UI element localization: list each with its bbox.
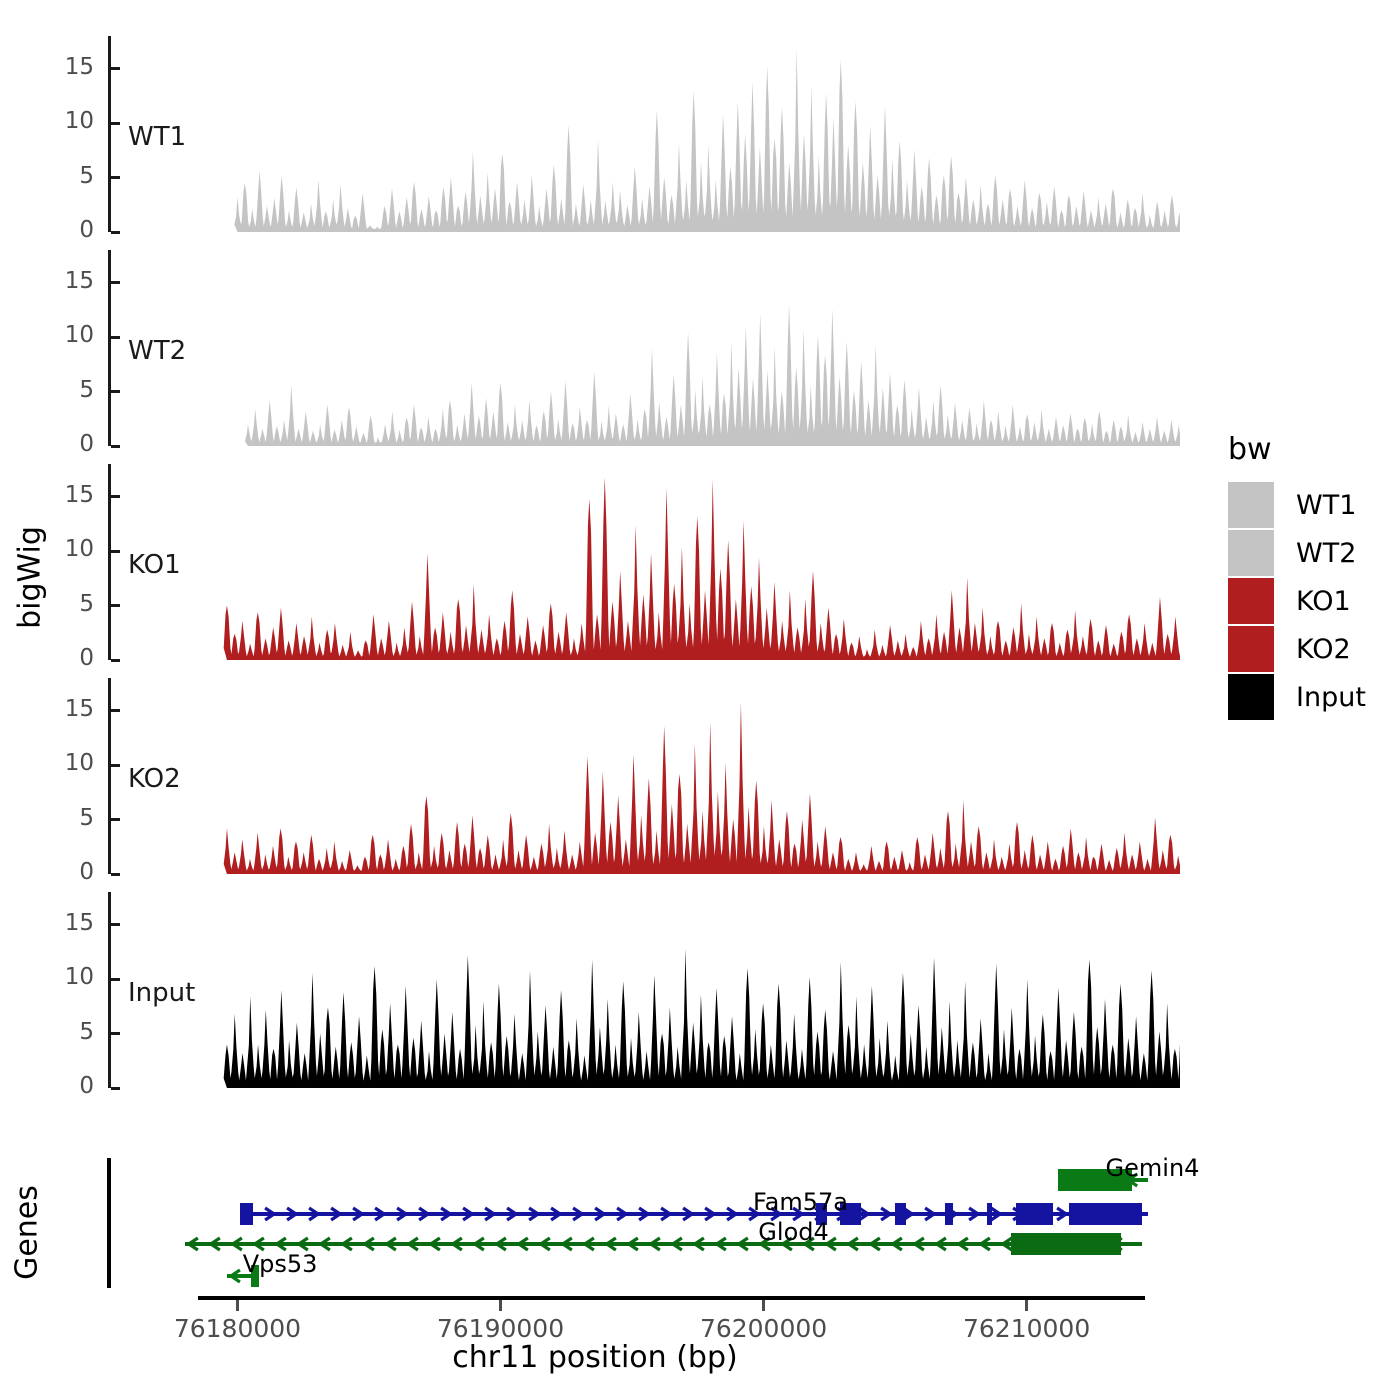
x-tick-label: 76200000 [674,1314,854,1343]
legend-item-label: WT1 [1296,490,1356,521]
legend-color-swatch [1228,482,1274,528]
track-panel-ko2: 051015KO2 [0,678,1180,874]
gene-exon-block [987,1203,992,1225]
x-tick-label: 76190000 [411,1314,591,1343]
legend-item-label: KO2 [1296,634,1351,665]
track-panel-input: 051015Input [0,892,1180,1088]
x-tick-label: 76180000 [147,1314,327,1343]
strand-arrow-icons [0,1264,1180,1288]
legend-item-label: Input [1296,682,1366,713]
signal-area-ko1 [0,464,1180,660]
legend-item-wt1[interactable]: WT1 [1228,481,1366,529]
gene-exon-block [895,1203,906,1225]
legend-items: WT1WT2KO1KO2Input [1228,481,1366,721]
legend-color-swatch [1228,626,1274,672]
x-axis-title: chr11 position (bp) [0,1340,1190,1375]
gene-label-glod4: Glod4 [758,1218,828,1246]
signal-area-wt1 [0,36,1180,232]
strand-arrow-icons [0,1202,1180,1226]
legend: bw WT1WT2KO1KO2Input [1228,432,1366,721]
signal-area-input [0,892,1180,1088]
strand-arrow-icons [0,1232,1180,1256]
legend-title: bw [1228,432,1366,467]
legend-color-swatch [1228,530,1274,576]
gene-exon-block [1069,1203,1143,1225]
x-tick [1025,1300,1028,1311]
gene-exon-block [1016,1203,1053,1225]
gene-label-fam57a: Fam57a [753,1188,848,1216]
legend-item-wt2[interactable]: WT2 [1228,529,1366,577]
strand-arrow-icons [0,1168,1180,1192]
x-tick-label: 76210000 [937,1314,1117,1343]
x-tick [762,1300,765,1311]
figure-root: bigWig Genes 051015WT1051015WT2051015KO1… [0,0,1400,1400]
legend-color-swatch [1228,674,1274,720]
track-panel-ko1: 051015KO1 [0,464,1180,660]
genes-panel: Gemin4Fam57aGlod4Vps53 [0,1158,1180,1288]
x-tick [499,1300,502,1311]
gene-label-vps53: Vps53 [243,1250,318,1278]
signal-area-wt2 [0,250,1180,446]
legend-item-ko1[interactable]: KO1 [1228,577,1366,625]
track-panel-wt1: 051015WT1 [0,36,1180,232]
legend-color-swatch [1228,578,1274,624]
gene-exon-block [240,1203,253,1225]
legend-item-ko2[interactable]: KO2 [1228,625,1366,673]
gene-label-gemin4: Gemin4 [1106,1154,1200,1182]
x-axis-line [198,1296,1145,1300]
signal-area-ko2 [0,678,1180,874]
gene-exon-block [1011,1233,1121,1255]
legend-item-label: KO1 [1296,586,1351,617]
legend-item-input[interactable]: Input [1228,673,1366,721]
gene-exon-block [945,1203,953,1225]
legend-item-label: WT2 [1296,538,1356,569]
x-tick [236,1300,239,1311]
track-panel-wt2: 051015WT2 [0,250,1180,446]
